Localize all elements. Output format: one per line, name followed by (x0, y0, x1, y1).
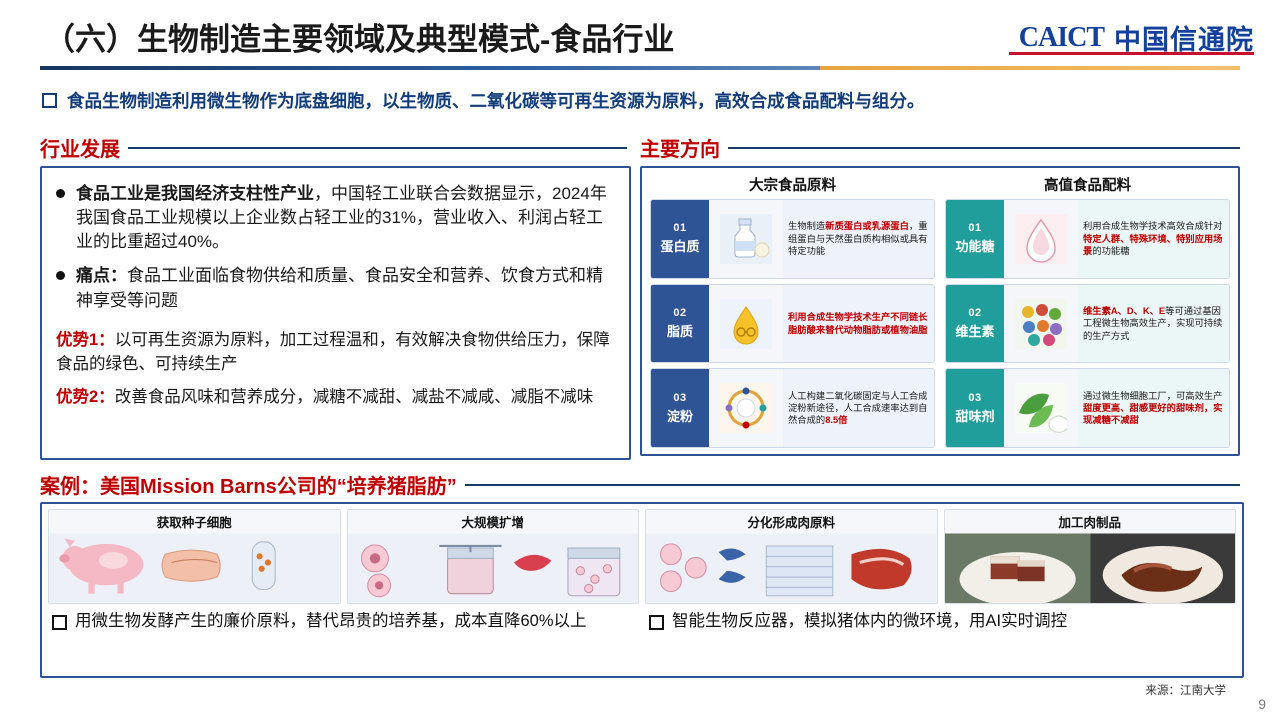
card-label: 功能糖 (955, 236, 994, 255)
case-study-panel: 获取种子细胞 (40, 502, 1244, 678)
card-number: 01 (968, 222, 981, 234)
section-title-industry: 行业发展 (40, 133, 120, 162)
main-directions-panel: 大宗食品原料 01 蛋白质 生物制 (640, 166, 1240, 456)
sugar-drop-icon (1004, 200, 1078, 278)
square-bullet-icon (42, 93, 57, 108)
card-index: 03 淀粉 (651, 369, 709, 447)
section-head-right: 主要方向 (640, 133, 1240, 162)
slide: （六）生物制造主要领域及典型模式-食品行业 CAICT 中国信通院 食品生物制造… (0, 0, 1280, 720)
case-image-caption: 大规模扩增 (348, 510, 639, 531)
direction-card-starch: 03 淀粉 人工构建二氧化碳固定与人 (650, 368, 935, 448)
case-image-row: 获取种子细胞 (42, 504, 1242, 604)
case-note-text: 用微生物发酵产生的廉价原料，替代昂贵的培养基，成本直降60%以上 (75, 610, 587, 632)
column-high-value-ingredients: 高值食品配料 01 功能糖 利用合成生物学技术高效合成针对特定人群、特殊环境、特… (945, 174, 1230, 448)
text-part-highlight: 8.5倍 (825, 415, 847, 425)
lead-statement: 食品生物制造利用微生物作为底盘细胞，以生物质、二氧化碳等可再生资源为原料，高效合… (42, 88, 1238, 113)
column-bulk-food-materials: 大宗食品原料 01 蛋白质 生物制 (650, 174, 935, 448)
text-part: 通过微生物细胞工厂，可高效生产 (1083, 391, 1222, 401)
oil-drop-icon (709, 285, 783, 363)
text-part-highlight: 维生素A、D、K、E (1083, 306, 1165, 316)
bullet-strong: 食品工业是我国经济支柱性产业 (76, 184, 314, 203)
list-item: 食品工业是我国经济支柱性产业，中国轻工业联合会数据显示，2024年我国食品工业规… (42, 182, 629, 254)
section-rule (728, 147, 1240, 149)
header-divider-right (820, 66, 1240, 70)
dot-bullet-icon (56, 189, 65, 198)
direction-card-functional-sugar: 01 功能糖 利用合成生物学技术高效合成针对特定人群、特殊环境、特别应用场景的功… (945, 199, 1230, 279)
advantage-item: 优势1：以可再生资源为原料，加工过程温和，有效解决食物供给压力，保障食品的绿色、… (42, 329, 629, 377)
case-image-caption: 加工肉制品 (945, 510, 1236, 531)
logo-caict-text: CAICT (1019, 22, 1104, 54)
text-part-highlight: 利用合成生物学技术生产不同链长脂肪酸来替代动物脂肪或植物油脂 (788, 311, 929, 336)
card-index: 02 维生素 (946, 285, 1004, 363)
direction-card-lipid: 02 脂质 利用合成生物学技术生产不同链长脂肪酸来替代动物脂肪或植物油脂 (650, 284, 935, 364)
direction-card-protein: 01 蛋白质 生物制造新质蛋白或乳源蛋白，重组蛋白与天然蛋白质构相似或具有特定功… (650, 199, 935, 279)
text-part: 的功能糖 (1092, 246, 1129, 256)
column-title: 高值食品配料 (945, 174, 1230, 195)
stevia-leaf-icon (1004, 369, 1078, 447)
section-head-case: 案例：美国Mission Barns公司的“培养猪脂肪” (40, 470, 1240, 499)
vitamin-pills-icon (1004, 285, 1078, 363)
case-note: 用微生物发酵产生的廉价原料，替代昂贵的培养基，成本直降60%以上 (52, 610, 635, 632)
card-label: 甜味剂 (955, 406, 994, 425)
list-item: 痛点：食品工业面临食物供给和质量、食品安全和营养、饮食方式和精神享受等问题 (42, 264, 629, 312)
milk-bottle-icon (709, 200, 783, 278)
section-rule (465, 484, 1240, 486)
case-image-processed-meat: 加工肉制品 (944, 509, 1237, 604)
section-head-left: 行业发展 (40, 133, 627, 162)
card-index: 01 功能糖 (946, 200, 1004, 278)
case-note: 智能生物反应器，模拟猪体内的微环境，用AI实时调控 (649, 610, 1232, 632)
case-image-expansion: 大规模扩增 (347, 509, 640, 604)
card-text: 生物制造新质蛋白或乳源蛋白，重组蛋白与天然蛋白质构相似或具有特定功能 (783, 200, 934, 278)
card-label: 淀粉 (667, 406, 693, 425)
advantage-item: 优势2：改善食品风味和营养成分，减糖不减甜、减盐不减咸、减脂不减味 (42, 386, 629, 410)
case-note-text: 智能生物反应器，模拟猪体内的微环境，用AI实时调控 (672, 610, 1067, 632)
case-illustration (945, 531, 1236, 604)
card-index: 02 脂质 (651, 285, 709, 363)
bullet-rest: 食品工业面临食物供给和质量、食品安全和营养、饮食方式和精神享受等问题 (76, 266, 603, 309)
card-number: 03 (968, 392, 981, 404)
advantage-tag: 优势2： (56, 388, 115, 406)
case-image-caption: 分化形成肉原料 (646, 510, 937, 531)
section-rule (128, 147, 627, 149)
card-label: 维生素 (955, 321, 994, 340)
case-image-differentiation: 分化形成肉原料 (645, 509, 938, 604)
source-note: 来源：江南大学 (1146, 682, 1227, 698)
card-text: 利用合成生物学技术生产不同链长脂肪酸来替代动物脂肪或植物油脂 (783, 285, 934, 363)
square-bullet-icon (649, 615, 664, 630)
logo-underline (1009, 52, 1254, 55)
section-title-directions: 主要方向 (640, 133, 720, 162)
text-part-highlight: 新质蛋白或乳源蛋白 (825, 221, 909, 231)
case-image-seed-cells: 获取种子细胞 (48, 509, 341, 604)
bullet-strong: 痛点： (76, 266, 127, 285)
card-index: 03 甜味剂 (946, 369, 1004, 447)
card-number: 03 (673, 392, 686, 404)
card-text: 利用合成生物学技术高效合成针对特定人群、特殊环境、特别应用场景的功能糖 (1078, 200, 1229, 278)
direction-card-sweetener: 03 甜味剂 通过微生物细胞工厂，可高效生产甜度更高、甜感更好的甜味剂，实现减糖… (945, 368, 1230, 448)
case-image-caption: 获取种子细胞 (49, 510, 340, 531)
case-illustration (646, 531, 937, 604)
text-part: 人工构建二氧化碳固定与人工合成淀粉新途径，人工合成速率达到自然合成的 (788, 391, 927, 426)
advantage-tag: 优势1： (56, 331, 115, 349)
advantage-text: 以可再生资源为原料，加工过程温和，有效解决食物供给压力，保障食品的绿色、可持续生… (56, 331, 610, 373)
case-illustration (49, 531, 340, 604)
dot-bullet-icon (56, 271, 65, 280)
page-number: 9 (1258, 696, 1266, 712)
industry-development-panel: 食品工业是我国经济支柱性产业，中国轻工业联合会数据显示，2024年我国食品工业规… (40, 166, 631, 460)
card-text: 通过微生物细胞工厂，可高效生产甜度更高、甜感更好的甜味剂，实现减糖不减甜 (1078, 369, 1229, 447)
card-text: 人工构建二氧化碳固定与人工合成淀粉新途径，人工合成速率达到自然合成的8.5倍 (783, 369, 934, 447)
square-bullet-icon (52, 615, 67, 630)
case-notes: 用微生物发酵产生的廉价原料，替代昂贵的培养基，成本直降60%以上 智能生物反应器… (42, 604, 1242, 632)
card-number: 02 (673, 307, 686, 319)
advantage-text: 改善食品风味和营养成分，减糖不减甜、减盐不减咸、减脂不减味 (115, 388, 594, 406)
text-part-highlight: 甜度更高、甜感更好的甜味剂，实现减糖不减甜 (1083, 403, 1222, 425)
case-illustration (348, 531, 639, 604)
text-part: 利用合成生物学技术高效合成针对 (1083, 221, 1222, 231)
card-text: 维生素A、D、K、E等可通过基因工程微生物高效生产，实现可持续的生产方式 (1078, 285, 1229, 363)
column-title: 大宗食品原料 (650, 174, 935, 195)
section-title-case: 案例：美国Mission Barns公司的“培养猪脂肪” (40, 470, 457, 499)
card-label: 蛋白质 (660, 236, 699, 255)
card-label: 脂质 (667, 321, 693, 340)
lead-text: 食品生物制造利用微生物作为底盘细胞，以生物质、二氧化碳等可再生资源为原料，高效合… (67, 88, 925, 113)
card-number: 02 (968, 307, 981, 319)
page-title: （六）生物制造主要领域及典型模式-食品行业 (44, 14, 674, 59)
header-divider-left (40, 66, 820, 70)
direction-card-vitamin: 02 维生素 (945, 284, 1230, 364)
card-index: 01 蛋白质 (651, 200, 709, 278)
card-number: 01 (673, 222, 686, 234)
starch-cycle-icon (709, 369, 783, 447)
text-part: 生物制造 (788, 221, 825, 231)
